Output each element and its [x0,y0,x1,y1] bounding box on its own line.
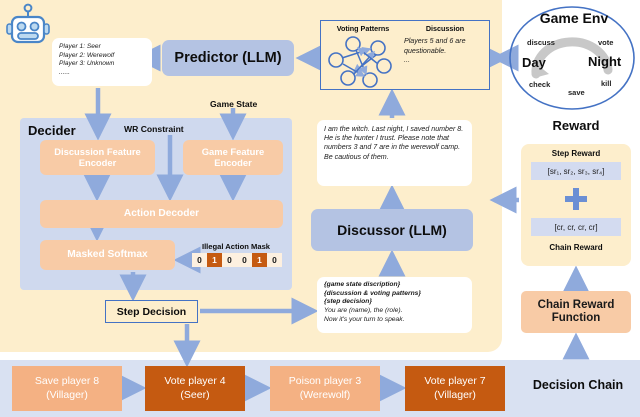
game-env-day-label: Day [522,55,546,70]
decision-chain-step: Poison player 3 (Werewolf) [270,366,380,411]
step-decision-box: Step Decision [105,300,198,323]
discussor-llm-box: Discussor (LLM) [311,209,473,251]
chain-step-action: Save player 8 [35,375,99,388]
chain-step-action: Poison player 3 [289,375,361,388]
discussion-feature-encoder: Discussion Feature Encoder [40,140,155,175]
chain-step-role: (Werewolf) [300,389,351,402]
player-list-line: Player 3: Unknown [59,60,146,69]
generated-speech-box: I am the witch. Last night, I saved numb… [317,120,472,186]
masked-softmax: Masked Softmax [40,240,175,270]
predictor-llm-box: Predictor (LLM) [162,40,294,76]
decision-chain-step: Save player 8 (Villager) [12,366,122,411]
game-state-label: Game State [210,99,257,109]
discussion-summary-line: Players 5 and 6 are questionable. [404,37,488,56]
chain-step-role: (Villager) [46,389,88,402]
decision-chain-step: Vote player 4 (Seer) [145,366,245,411]
decision-chain-step: Vote player 7 (Villager) [405,366,505,411]
game-env-step-vote: vote [598,38,613,47]
discussion-summary-text: Players 5 and 6 are questionable. ... [404,37,488,66]
game-feature-encoder: Game Feature Encoder [183,140,283,175]
chain-reward-function-box: Chain Reward Function [521,291,631,333]
chain-step-role: (Villager) [434,389,476,402]
player-list-line: ...... [59,69,146,78]
chain-step-role: (Seer) [180,389,209,402]
mask-bit: 0 [267,253,282,267]
chain-reward-title: Chain Reward [521,243,631,252]
illegal-action-mask-label: Illegal Action Mask [180,242,292,251]
illegal-action-mask-bits: 0 1 0 0 1 0 [192,253,282,267]
chain-step-action: Vote player 7 [424,375,485,388]
decision-chain-title: Decision Chain [522,378,634,392]
prompt-instruction-line: Now it's your turn to speak. [324,316,465,325]
step-reward-values: [sr₁, sr₂, sr₃, sr₄] [531,162,621,180]
player-list-line: Player 1: Seer [59,43,146,52]
chain-step-action: Vote player 4 [164,375,225,388]
mask-bit: 1 [252,253,267,267]
discussion-ellipsis: ... [404,56,488,66]
game-env-step-discuss: discuss [527,38,555,47]
prompt-slot-line: {discussion & voting patterns} [324,290,465,299]
reward-title: Reward [530,118,622,133]
game-env-step-save: save [568,88,585,97]
game-env-step-check: check [529,80,550,89]
action-decoder: Action Decoder [40,200,283,228]
mask-bit: 0 [192,253,207,267]
player-role-prediction-list: Player 1: Seer Player 2: Werewolf Player… [52,38,152,86]
prompt-instruction-line: You are (name), the (role). [324,307,465,316]
mask-bit: 1 [207,253,222,267]
chain-reward-values: [cr, cr, cr, cr] [531,218,621,236]
prompt-template-box: {game state discription} {discussion & v… [317,277,472,333]
voting-pattern-graph-icon [326,36,398,86]
decider-title: Decider [28,123,76,138]
step-reward-title: Step Reward [521,149,631,158]
prompt-slot-line: {step decision} [324,298,465,307]
wr-constraint-label: WR Constraint [124,124,184,134]
plus-icon [563,186,589,212]
game-env-step-kill: kill [601,79,611,88]
game-env-title: Game Env [524,10,624,26]
prompt-slot-line: {game state discription} [324,281,465,290]
voting-patterns-title: Voting Patterns [327,24,399,33]
mask-bit: 0 [237,253,252,267]
player-list-line: Player 2: Werewolf [59,52,146,61]
mask-bit: 0 [222,253,237,267]
robot-head-icon [4,3,52,51]
discussion-title: Discussion [409,24,481,33]
game-env-night-label: Night [588,54,621,69]
